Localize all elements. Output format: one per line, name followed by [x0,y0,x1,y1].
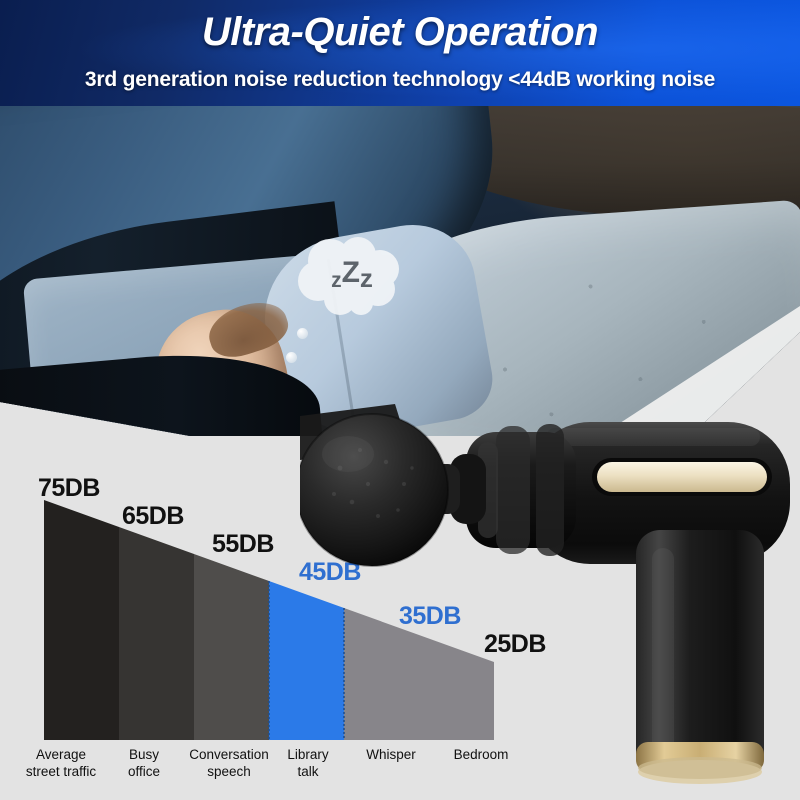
data-label-0: 75DB [38,474,100,503]
category-label-0: Average street traffic [11,747,111,781]
bar-conversation-speech [194,554,269,740]
gun-handle [636,530,764,784]
bar-average-street-traffic [44,500,119,740]
sleep-thought-cloud-icon: zZz [292,237,412,323]
gun-ball-head [300,414,448,566]
data-label-2: 55DB [212,530,274,559]
page-subtitle: 3rd generation noise reduction technolog… [0,68,800,92]
gun-display-screen [592,458,772,496]
hero-photo: zZz [0,106,800,436]
product-infographic: Ultra-Quiet Operation 3rd generation noi… [0,0,800,800]
onesie-button [297,328,308,339]
data-label-1: 65DB [122,502,184,531]
bar-busy-office [119,527,194,740]
page-title: Ultra-Quiet Operation [0,10,800,55]
header-banner: Ultra-Quiet Operation 3rd generation noi… [0,0,800,108]
onesie-button [286,352,297,363]
massage-gun-product-image [300,398,800,800]
